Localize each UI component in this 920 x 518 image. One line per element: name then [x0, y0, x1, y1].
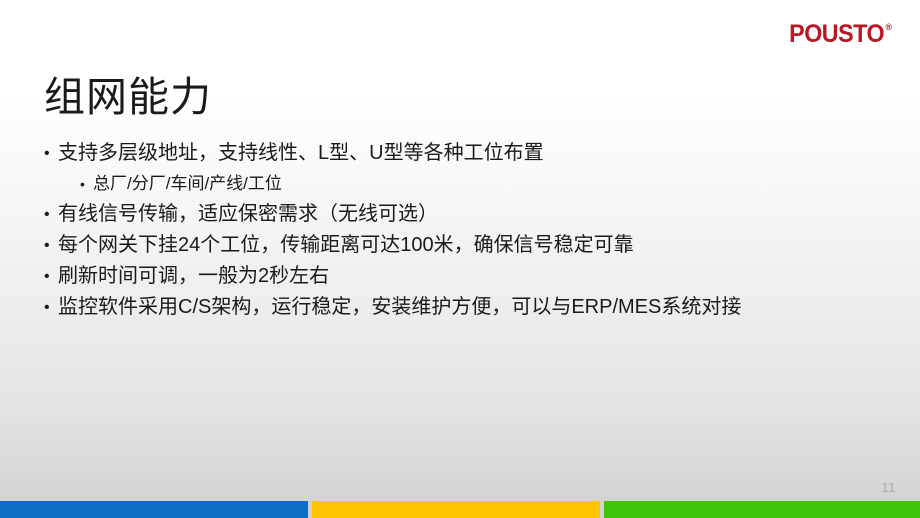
- list-item-text: 刷新时间可调，一般为2秒左右: [58, 261, 880, 292]
- footer-segment-green: [604, 501, 920, 518]
- pousto-logo: POUSTO ®: [782, 22, 892, 47]
- bullet-dot-icon: •: [44, 138, 58, 169]
- list-item: • 有线信号传输，适应保密需求（无线可选）: [40, 199, 880, 230]
- list-item-text: 总厂/分厂/车间/产线/工位: [93, 169, 880, 199]
- footer-color-bar: [0, 501, 920, 518]
- footer-segment-yellow: [312, 501, 600, 518]
- list-item: • 刷新时间可调，一般为2秒左右: [40, 261, 880, 292]
- bullet-dot-icon: •: [44, 230, 58, 261]
- list-item-text: 支持多层级地址，支持线性、L型、U型等各种工位布置: [58, 138, 880, 169]
- list-item: • 监控软件采用C/S架构，运行稳定，安装维护方便，可以与ERP/MES系统对接: [40, 292, 880, 323]
- bullet-dot-icon: •: [80, 169, 93, 199]
- list-item-text: 每个网关下挂24个工位，传输距离可达100米，确保信号稳定可靠: [58, 230, 880, 261]
- list-item: • 每个网关下挂24个工位，传输距离可达100米，确保信号稳定可靠: [40, 230, 880, 261]
- page-number: 11: [882, 480, 897, 495]
- footer-segment-blue: [0, 501, 308, 518]
- bullet-list: • 支持多层级地址，支持线性、L型、U型等各种工位布置 • 总厂/分厂/车间/产…: [40, 138, 880, 323]
- list-item: • 总厂/分厂/车间/产线/工位: [40, 169, 880, 199]
- page-title: 组网能力: [44, 74, 212, 121]
- bullet-dot-icon: •: [44, 199, 58, 230]
- bullet-dot-icon: •: [44, 292, 58, 323]
- bullet-dot-icon: •: [44, 261, 58, 292]
- list-item: • 支持多层级地址，支持线性、L型、U型等各种工位布置: [40, 138, 880, 169]
- list-item-text: 监控软件采用C/S架构，运行稳定，安装维护方便，可以与ERP/MES系统对接: [58, 292, 880, 323]
- registered-trademark-icon: ®: [885, 23, 892, 32]
- list-item-text: 有线信号传输，适应保密需求（无线可选）: [58, 199, 880, 230]
- slide-canvas: POUSTO ® 组网能力 • 支持多层级地址，支持线性、L型、U型等各种工位布…: [0, 0, 920, 518]
- logo-wordmark: POUSTO: [789, 22, 884, 47]
